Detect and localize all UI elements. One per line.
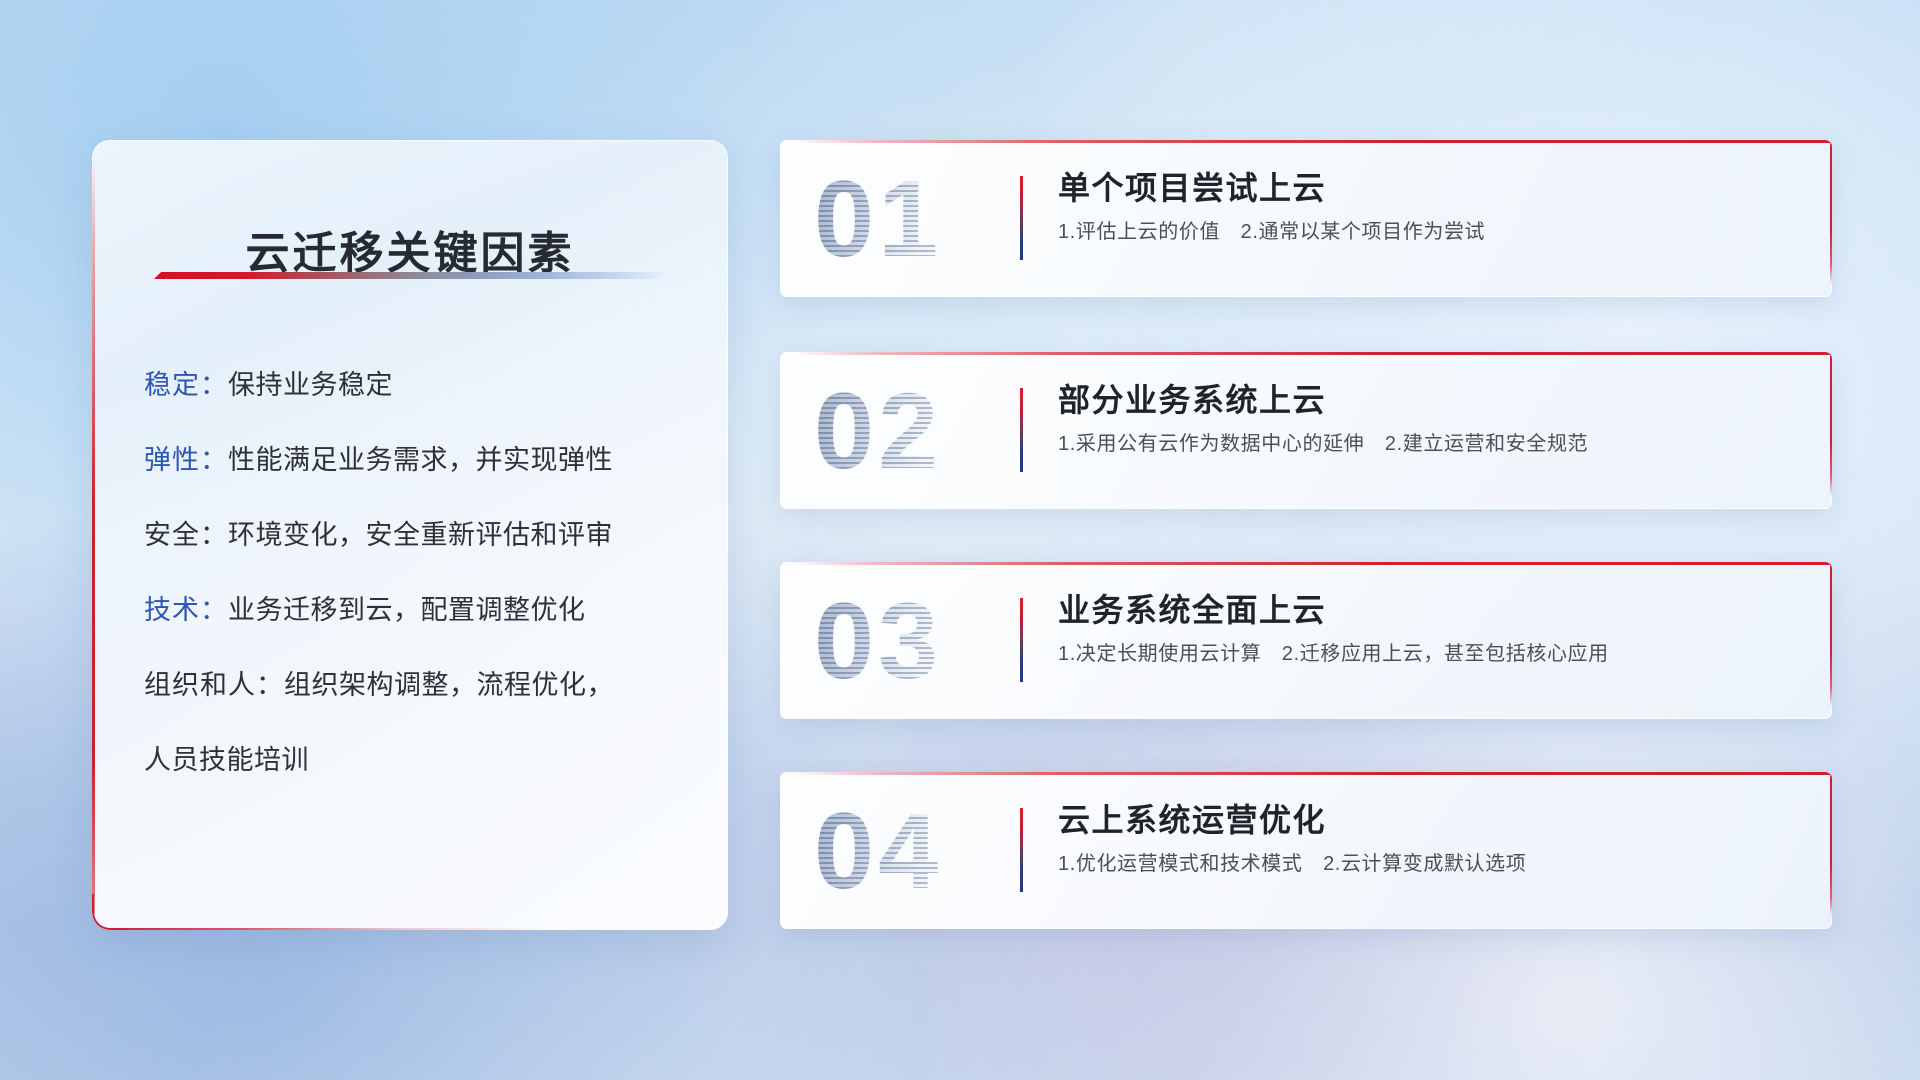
key-factor-label: 弹性： [144,445,228,475]
key-factor-text: 保持业务稳定 [228,370,393,400]
key-factors-panel: 云迁移关键因素 稳定：保持业务稳定 弹性：性能满足业务需求，并实现弹性 安全：环… [92,140,728,930]
step-title: 部分业务系统上云 [1058,382,1806,420]
step-divider-bar [1020,598,1023,682]
key-factor-text: 业务迁移到云，配置调整优化 [228,595,586,625]
step-description: 1.采用公有云作为数据中心的延伸 2.建立运营和安全规范 [1058,432,1806,456]
step-title: 云上系统运营优化 [1058,802,1806,840]
key-factor-text: 环境变化，安全重新评估和评审 [228,520,613,550]
step-title: 单个项目尝试上云 [1058,170,1806,208]
step-card-02[interactable]: 02 部分业务系统上云 1.采用公有云作为数据中心的延伸 2.建立运营和安全规范 [780,352,1832,509]
card-accent-right-edge [1830,562,1833,707]
key-factor-text: 组织架构调整，流程优化， [284,670,614,700]
step-description: 1.决定长期使用云计算 2.迁移应用上云，甚至包括核心应用 [1058,642,1806,666]
key-factor-item-organization-cont: 人员技能培训 [144,747,694,774]
key-factor-item-organization: 组织和人：组织架构调整，流程优化， [144,672,694,699]
step-number-badge: 02 [814,377,942,485]
key-factor-item-security: 安全：环境变化，安全重新评估和评审 [144,522,694,549]
step-body: 部分业务系统上云 1.采用公有云作为数据中心的延伸 2.建立运营和安全规范 [1058,382,1806,456]
key-factor-item-elasticity: 弹性：性能满足业务需求，并实现弹性 [144,447,694,474]
key-factor-label: 技术： [144,595,228,625]
step-number-badge: 03 [814,587,942,695]
step-description: 1.优化运营模式和技术模式 2.云计算变成默认选项 [1058,852,1806,876]
key-factor-text: 人员技能培训 [144,745,309,775]
key-factor-text: 性能满足业务需求，并实现弹性 [228,445,613,475]
step-card-04[interactable]: 04 云上系统运营优化 1.优化运营模式和技术模式 2.云计算变成默认选项 [780,772,1832,929]
step-divider-bar [1020,808,1023,892]
key-factors-list: 稳定：保持业务稳定 弹性：性能满足业务需求，并实现弹性 安全：环境变化，安全重新… [144,372,694,774]
key-factor-label: 组织和人： [144,670,284,700]
step-body: 云上系统运营优化 1.优化运营模式和技术模式 2.云计算变成默认选项 [1058,802,1806,876]
card-accent-top-edge [792,772,1832,775]
card-accent-top-edge [792,562,1832,565]
panel-title-underline [154,272,666,279]
step-body: 单个项目尝试上云 1.评估上云的价值 2.通常以某个项目作为尝试 [1058,170,1806,244]
key-factor-label: 安全： [144,520,228,550]
step-divider-bar [1020,388,1023,472]
slide-canvas: 云迁移关键因素 稳定：保持业务稳定 弹性：性能满足业务需求，并实现弹性 安全：环… [0,0,1920,1080]
panel-accent-corner [92,894,128,930]
card-accent-top-edge [792,352,1832,355]
step-divider-bar [1020,176,1023,260]
step-card-01[interactable]: 01 单个项目尝试上云 1.评估上云的价值 2.通常以某个项目作为尝试 [780,140,1832,297]
card-accent-top-edge [792,140,1832,143]
step-description: 1.评估上云的价值 2.通常以某个项目作为尝试 [1058,220,1806,244]
step-number-badge: 01 [814,165,942,273]
key-factor-label: 稳定： [144,370,228,400]
step-number-badge: 04 [814,797,942,905]
card-accent-right-edge [1830,140,1833,285]
key-factor-item-technology: 技术：业务迁移到云，配置调整优化 [144,597,694,624]
panel-title: 云迁移关键因素 [92,217,728,281]
panel-accent-bottom-edge [106,928,714,931]
key-factor-item-stability: 稳定：保持业务稳定 [144,372,694,399]
card-accent-right-edge [1830,352,1833,497]
step-title: 业务系统全面上云 [1058,592,1806,630]
step-card-03[interactable]: 03 业务系统全面上云 1.决定长期使用云计算 2.迁移应用上云，甚至包括核心应… [780,562,1832,719]
step-body: 业务系统全面上云 1.决定长期使用云计算 2.迁移应用上云，甚至包括核心应用 [1058,592,1806,666]
card-accent-right-edge [1830,772,1833,917]
